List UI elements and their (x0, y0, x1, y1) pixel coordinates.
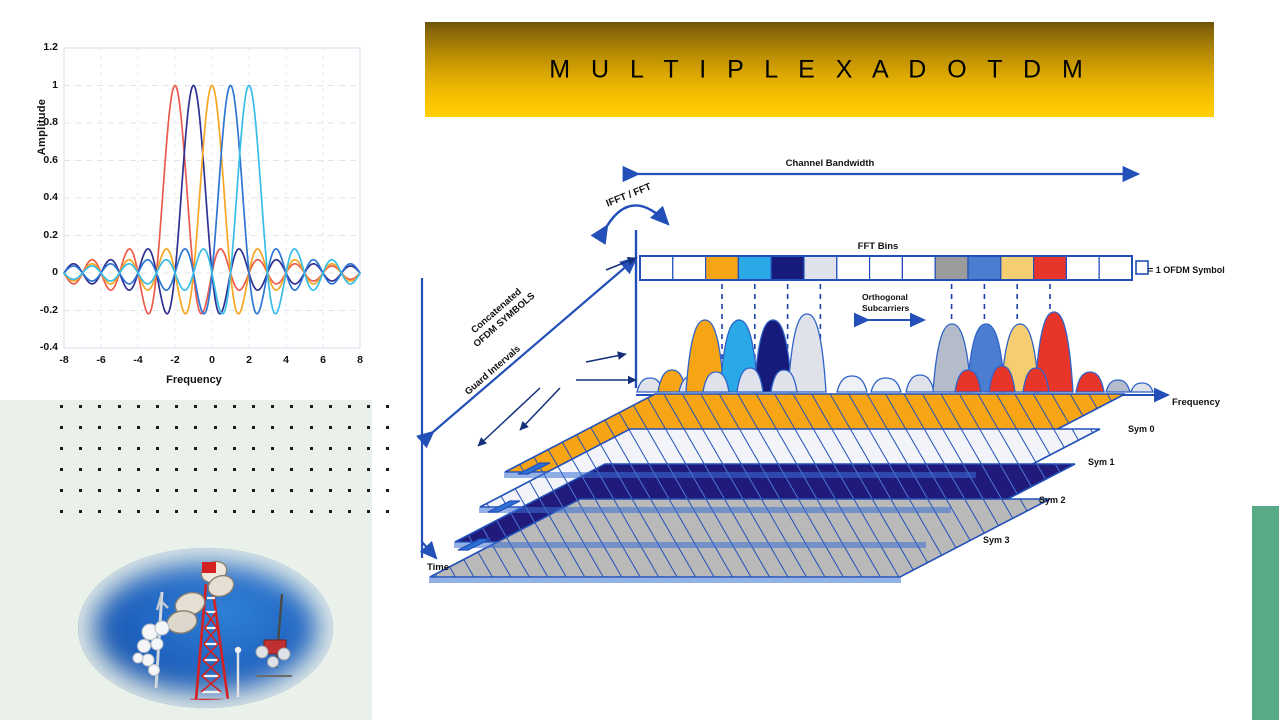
symbol-label-2: Sym 2 (1039, 495, 1066, 505)
grid-dot (60, 489, 63, 492)
grid-dot (118, 426, 121, 429)
subcarrier-lobe (1131, 383, 1153, 392)
subcarrier-lobe (871, 378, 901, 392)
grid-dot (290, 405, 293, 408)
fft-bin-cell (804, 256, 837, 280)
grid-dot (60, 447, 63, 450)
grid-dot (348, 510, 351, 513)
chart-y-tick: 0 (24, 266, 58, 278)
grid-dot (214, 510, 217, 513)
grid-dot (252, 510, 255, 513)
grid-dot (98, 489, 101, 492)
grid-dot (367, 405, 370, 408)
subcarrier-lobe (1106, 380, 1130, 392)
plane-front-face (454, 542, 926, 548)
guard-interval-pointer (478, 388, 540, 446)
ofdm-symbol-legend-box (1136, 261, 1148, 274)
orthogonal-subcarriers-line1: Orthogonal (862, 292, 908, 302)
slide-title-text: M U L T I P L E X A D O T D M (425, 55, 1214, 84)
symbol-label-1: Sym 1 (1088, 457, 1115, 467)
plane-front-face (429, 577, 901, 583)
grid-dot (310, 510, 313, 513)
grid-dot (233, 405, 236, 408)
plane-front-face (504, 472, 976, 478)
fft-bin-cell (902, 256, 935, 280)
grid-dot (60, 510, 63, 513)
grid-dot (214, 447, 217, 450)
slide-title-banner: M U L T I P L E X A D O T D M (425, 22, 1214, 117)
grid-dot (98, 426, 101, 429)
fft-bin-cell (738, 256, 771, 280)
grid-dot (156, 510, 159, 513)
dot-grid-decoration (60, 405, 395, 525)
grid-dot (271, 468, 274, 471)
fft-bin-cell (870, 256, 903, 280)
grid-dot (290, 447, 293, 450)
chart-x-tick: -6 (89, 354, 113, 366)
grid-dot (386, 510, 389, 513)
grid-dot (60, 426, 63, 429)
grid-dot (386, 468, 389, 471)
chart-x-tick: -2 (163, 354, 187, 366)
symbol-label-3: Sym 3 (983, 535, 1010, 545)
grid-dot (348, 405, 351, 408)
grid-dot (367, 468, 370, 471)
grid-dot (310, 426, 313, 429)
guard-interval-pointer (586, 354, 626, 362)
chart-plot-area (64, 48, 360, 348)
fft-bins-label: FFT Bins (858, 241, 899, 252)
chart-x-tick: -8 (52, 354, 76, 366)
grid-dot (386, 405, 389, 408)
grid-dot (194, 468, 197, 471)
grid-dot (271, 405, 274, 408)
grid-dot (214, 489, 217, 492)
grid-dot (329, 468, 332, 471)
channel-bandwidth-label: Channel Bandwidth (786, 158, 875, 169)
grid-dot (271, 447, 274, 450)
grid-dot (137, 405, 140, 408)
tower-artwork (78, 548, 333, 708)
grid-dot (214, 405, 217, 408)
grid-dot (233, 510, 236, 513)
grid-dot (310, 468, 313, 471)
fft-bin-cell (1034, 256, 1067, 280)
chart-y-tick: 1 (24, 79, 58, 91)
fft-bin-cell (1066, 256, 1099, 280)
grid-dot (367, 510, 370, 513)
chart-y-tick: 0.4 (24, 191, 58, 203)
chart-y-tick: 0.2 (24, 229, 58, 241)
grid-dot (98, 405, 101, 408)
grid-dot (310, 405, 313, 408)
grid-dot (367, 426, 370, 429)
concatenated-symbols-arrow (433, 258, 636, 432)
grid-dot (252, 426, 255, 429)
chart-x-axis-label: Frequency (14, 374, 374, 386)
grid-dot (194, 510, 197, 513)
fft-bin-cell (771, 256, 804, 280)
grid-dot (60, 405, 63, 408)
grid-dot (252, 405, 255, 408)
grid-dot (290, 426, 293, 429)
grid-dot (310, 489, 313, 492)
grid-dot (175, 510, 178, 513)
grid-dot (271, 426, 274, 429)
grid-dot (348, 426, 351, 429)
grid-dot (214, 426, 217, 429)
grid-dot (194, 489, 197, 492)
ofdm-subcarrier-chart: Amplitude Frequency 1.210.80.60.40.20-0.… (14, 22, 374, 400)
antenna-tower-image (78, 548, 333, 708)
chart-y-tick: 0.8 (24, 116, 58, 128)
grid-dot (290, 510, 293, 513)
grid-dot (118, 510, 121, 513)
grid-dot (137, 468, 140, 471)
green-accent-bar (1252, 506, 1279, 720)
grid-dot (233, 426, 236, 429)
grid-dot (175, 426, 178, 429)
chart-y-tick: 1.2 (24, 41, 58, 53)
fft-bin-cell (935, 256, 968, 280)
grid-dot (348, 447, 351, 450)
grid-dot (98, 468, 101, 471)
grid-dot (175, 405, 178, 408)
grid-dot (214, 468, 217, 471)
grid-dot (233, 447, 236, 450)
subcarrier-lobe (837, 376, 867, 392)
fft-bin-cell (1001, 256, 1034, 280)
grid-dot (329, 405, 332, 408)
plane-front-face (479, 507, 951, 513)
grid-dot (252, 447, 255, 450)
chart-x-tick: -4 (126, 354, 150, 366)
grid-dot (290, 489, 293, 492)
grid-dot (175, 447, 178, 450)
frequency-axis-label: Frequency (1172, 397, 1220, 408)
ofdm-structure-diagram: Channel Bandwidth IFFT / FFT FFT Bins = … (400, 130, 1279, 600)
orthogonal-subcarriers-line2: Subcarriers (862, 303, 909, 313)
bins-pointer-arrow (606, 258, 636, 270)
grid-dot (137, 489, 140, 492)
grid-dot (348, 489, 351, 492)
grid-dot (386, 447, 389, 450)
grid-dot (118, 405, 121, 408)
grid-dot (137, 447, 140, 450)
time-axis-label: Time (427, 562, 449, 573)
fft-bin-cell (968, 256, 1001, 280)
grid-dot (329, 447, 332, 450)
grid-dot (233, 468, 236, 471)
chart-x-tick: 6 (311, 354, 335, 366)
grid-dot (79, 447, 82, 450)
grid-dot (329, 510, 332, 513)
grid-dot (118, 489, 121, 492)
grid-dot (271, 510, 274, 513)
grid-dot (194, 426, 197, 429)
grid-dot (60, 468, 63, 471)
grid-dot (271, 489, 274, 492)
grid-dot (118, 468, 121, 471)
grid-dot (156, 405, 159, 408)
grid-dot (329, 426, 332, 429)
grid-dot (79, 405, 82, 408)
grid-dot (194, 447, 197, 450)
fft-bin-cell (1099, 256, 1132, 280)
grid-dot (252, 489, 255, 492)
grid-dot (156, 489, 159, 492)
grid-dot (367, 489, 370, 492)
chart-y-tick: -0.4 (24, 341, 58, 353)
grid-dot (290, 468, 293, 471)
fft-bin-cell (640, 256, 673, 280)
symbol-label-0: Sym 0 (1128, 424, 1155, 434)
grid-dot (175, 489, 178, 492)
grid-dot (118, 447, 121, 450)
grid-dot (79, 468, 82, 471)
chart-y-tick: -0.2 (24, 304, 58, 316)
subcarrier-lobe (906, 375, 934, 392)
grid-dot (79, 510, 82, 513)
orthogonal-subcarriers-label: Orthogonal Subcarriers (862, 292, 909, 314)
grid-dot (79, 489, 82, 492)
grid-dot (137, 510, 140, 513)
time-axis-arrow (422, 542, 436, 558)
grid-dot (137, 426, 140, 429)
chart-y-ticks: 1.210.80.60.40.20-0.2-0.4 (24, 22, 58, 352)
fft-bin-cell (837, 256, 870, 280)
chart-x-tick: 8 (348, 354, 372, 366)
grid-dot (386, 489, 389, 492)
ofdm-symbol-legend-label: = 1 OFDM Symbol (1148, 265, 1225, 275)
grid-dot (175, 468, 178, 471)
fft-bin-cell (673, 256, 706, 280)
chart-x-tick: 0 (200, 354, 224, 366)
grid-dot (79, 426, 82, 429)
grid-dot (156, 426, 159, 429)
grid-dot (194, 405, 197, 408)
grid-dot (329, 489, 332, 492)
grid-dot (348, 468, 351, 471)
grid-dot (156, 468, 159, 471)
fft-bin-cell (706, 256, 739, 280)
grid-dot (98, 510, 101, 513)
subcarrier-lobe (1076, 372, 1104, 392)
grid-dot (98, 447, 101, 450)
grid-dot (233, 489, 236, 492)
grid-dot (386, 426, 389, 429)
ifft-fft-arrow (607, 205, 668, 226)
grid-dot (252, 468, 255, 471)
chart-y-tick: 0.6 (24, 154, 58, 166)
chart-x-tick: 2 (237, 354, 261, 366)
grid-dot (156, 447, 159, 450)
grid-dot (367, 447, 370, 450)
grid-dot (310, 447, 313, 450)
chart-x-tick: 4 (274, 354, 298, 366)
guard-interval-pointer (520, 388, 560, 430)
